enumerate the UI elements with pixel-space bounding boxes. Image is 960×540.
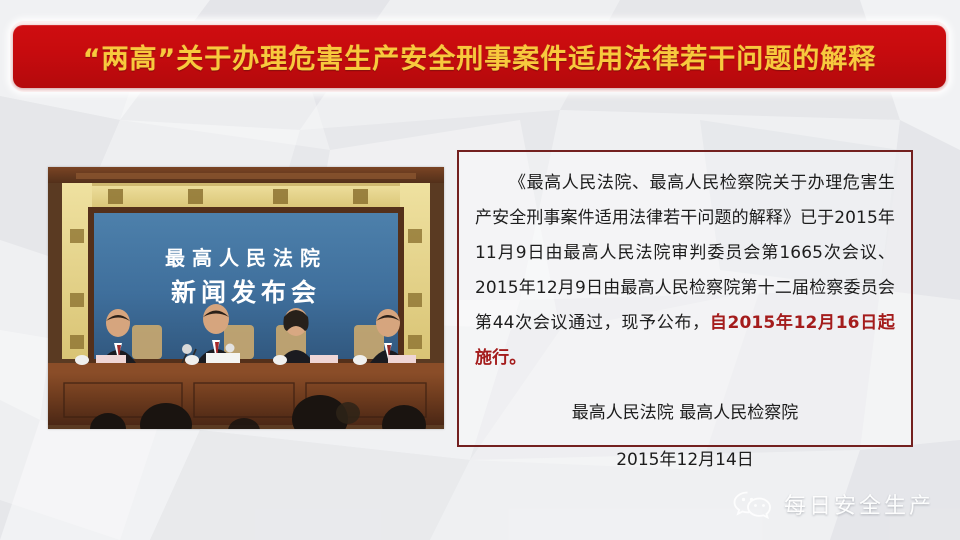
notice-paragraph-text: 《最高人民法院、最高人民检察院关于办理危害生产安全刑事案件适用法律若干问题的解释… — [475, 173, 895, 333]
photo-backdrop-line2: 新闻发布会 — [171, 278, 321, 307]
page-title: “两高”关于办理危害生产安全刑事案件适用法律若干问题的解释 — [83, 37, 877, 76]
notice-signature: 最高人民法院 最高人民检察院 — [475, 396, 895, 431]
wechat-account-name: 每日安全生产 — [784, 488, 934, 520]
wechat-icon — [732, 488, 774, 520]
photo-artwork: 最高人民法院 新闻发布会 — [48, 167, 444, 429]
notice-paragraph: 《最高人民法院、最高人民检察院关于办理危害生产安全刑事案件适用法律若干问题的解释… — [475, 166, 895, 376]
press-conference-photo: 最高人民法院 新闻发布会 — [48, 167, 444, 429]
slide-canvas: “两高”关于办理危害生产安全刑事案件适用法律若干问题的解释 — [0, 0, 960, 540]
photo-backdrop-line1: 最高人民法院 — [165, 246, 327, 270]
title-banner: “两高”关于办理危害生产安全刑事案件适用法律若干问题的解释 — [13, 25, 946, 88]
notice-date: 2015年12月14日 — [475, 443, 895, 478]
wechat-watermark: 每日安全生产 — [732, 488, 934, 520]
notice-card: 《最高人民法院、最高人民检察院关于办理危害生产安全刑事案件适用法律若干问题的解释… — [457, 150, 913, 447]
